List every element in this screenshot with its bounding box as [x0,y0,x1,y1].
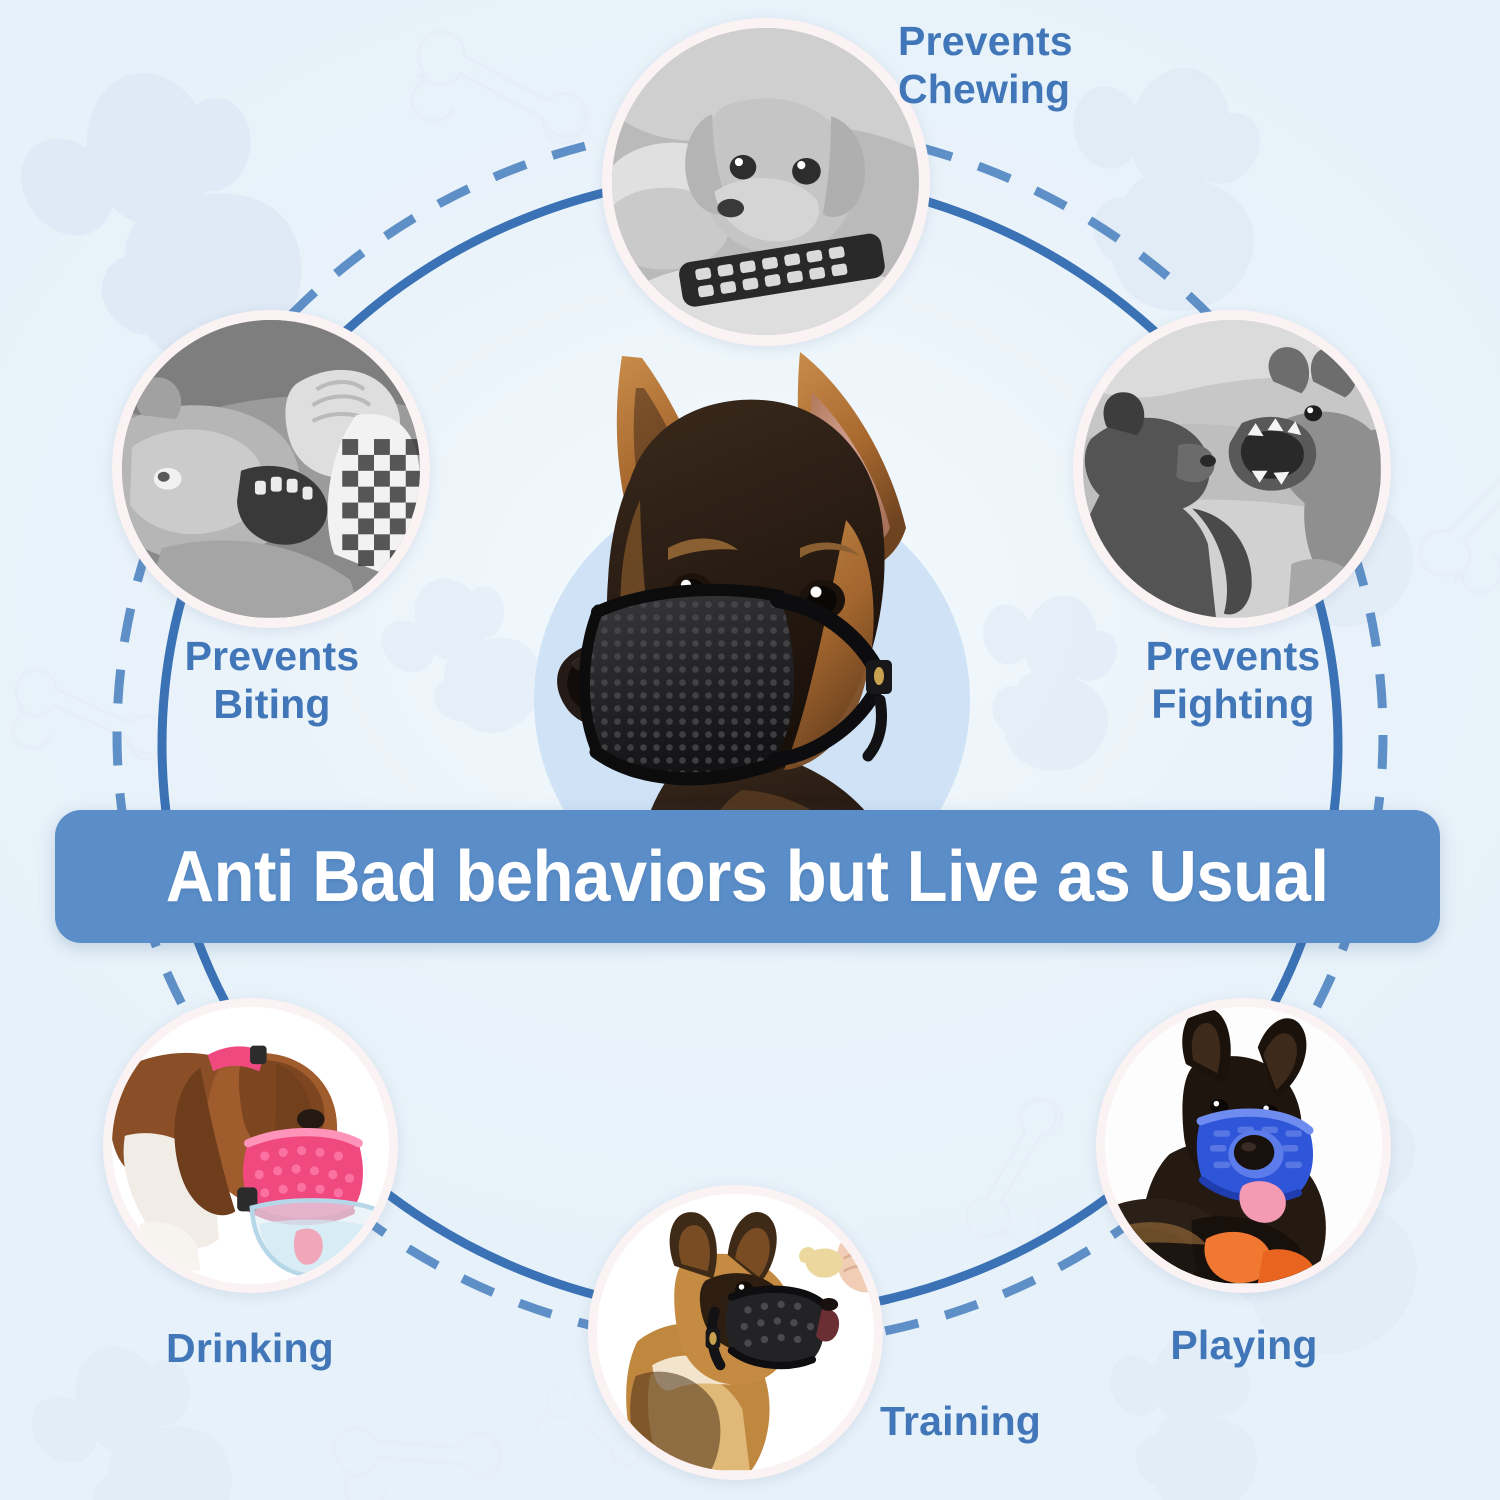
infographic-canvas: Prevents Chewing [0,0,1500,1500]
center-hero-image [0,0,1500,1500]
hero-dog-illustration [557,352,906,905]
